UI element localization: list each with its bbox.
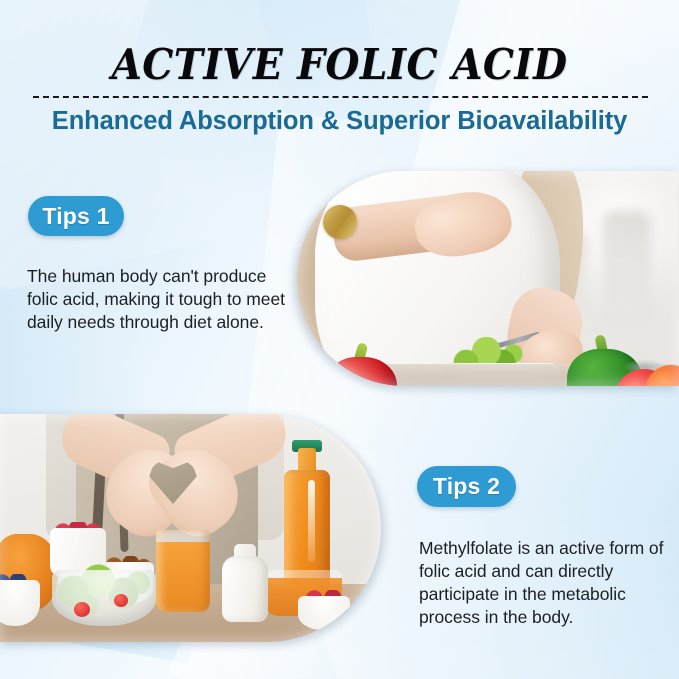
tips-1-badge: Tips 1 [28, 196, 124, 236]
title-divider [33, 96, 648, 98]
photo-pregnant-woman-salad [297, 171, 679, 386]
tips-2-body-text: Methylfolate is an active form of folic … [419, 537, 667, 630]
photo-2-juice-bottle-highlight [308, 480, 315, 562]
photo-heart-hands-healthy-food [0, 414, 381, 642]
page-subtitle: Enhanced Absorption & Superior Bioavaila… [0, 107, 679, 136]
page-title: ACTIVE FOLIC ACID [24, 0, 655, 86]
photo-2-salad-tomato-a [74, 602, 90, 617]
photo-2-salad-tomato-b [114, 594, 128, 607]
header: ACTIVE FOLIC ACID Enhanced Absorption & … [0, 0, 679, 86]
photo-2-milk-jar [222, 556, 268, 622]
photo-2-juice-glass [156, 530, 210, 612]
photo-2-salad-bowl [52, 570, 156, 626]
photo-2-scene [0, 414, 381, 642]
tips-1-badge-label: Tips 1 [42, 203, 109, 230]
poster-root: ACTIVE FOLIC ACID Enhanced Absorption & … [0, 0, 679, 679]
photo-1-blurred-object-a [603, 211, 651, 331]
photo-2-small-bowl [298, 596, 350, 630]
photo-1-scene [297, 171, 679, 386]
tips-2-badge: Tips 2 [417, 466, 516, 507]
tips-2-badge-label: Tips 2 [433, 473, 500, 500]
tips-1-body-text: The human body can't produce folic acid,… [27, 265, 295, 335]
